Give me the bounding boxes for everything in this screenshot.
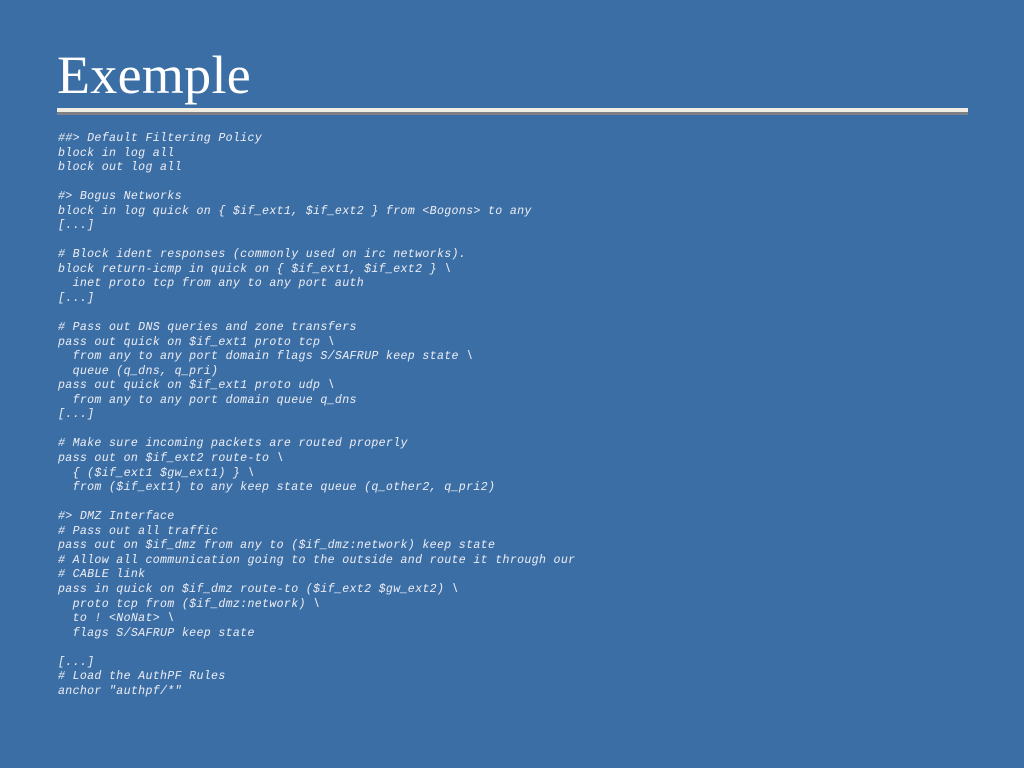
divider-shadow-line [57,112,968,115]
title-divider [57,108,968,115]
code-line: # Block ident responses (commonly used o… [58,248,998,263]
code-line: { ($if_ext1 $gw_ext1) } \ [58,467,998,482]
code-line [58,307,998,322]
code-line [58,496,998,511]
code-line: queue (q_dns, q_pri) [58,365,998,380]
code-line: pass in quick on $if_dmz route-to ($if_e… [58,583,998,598]
code-line: #> Bogus Networks [58,190,998,205]
code-line: # Pass out all traffic [58,525,998,540]
code-line: pass out on $if_dmz from any to ($if_dmz… [58,539,998,554]
code-area: ##> Default Filtering Policyblock in log… [58,132,998,699]
code-line: # CABLE link [58,568,998,583]
code-line: from any to any port domain queue q_dns [58,394,998,409]
slide-root: Exemple ##> Default Filtering Policybloc… [0,0,1024,768]
pf-config-code-block: ##> Default Filtering Policyblock in log… [58,132,998,699]
code-line: # Pass out DNS queries and zone transfer… [58,321,998,336]
code-line: # Load the AuthPF Rules [58,670,998,685]
code-line: [...] [58,408,998,423]
code-line: to ! <NoNat> \ [58,612,998,627]
code-line: flags S/SAFRUP keep state [58,627,998,642]
code-line: proto tcp from ($if_dmz:network) \ [58,598,998,613]
code-line [58,641,998,656]
code-line: anchor "authpf/*" [58,685,998,700]
code-line: ##> Default Filtering Policy [58,132,998,147]
code-line: pass out on $if_ext2 route-to \ [58,452,998,467]
code-line: pass out quick on $if_ext1 proto udp \ [58,379,998,394]
code-line [58,423,998,438]
code-line: #> DMZ Interface [58,510,998,525]
code-line: block out log all [58,161,998,176]
code-line: [...] [58,292,998,307]
code-line: from any to any port domain flags S/SAFR… [58,350,998,365]
code-line: inet proto tcp from any to any port auth [58,277,998,292]
code-line: pass out quick on $if_ext1 proto tcp \ [58,336,998,351]
title-area: Exemple [57,46,969,104]
code-line: block in log quick on { $if_ext1, $if_ex… [58,205,998,220]
code-line: [...] [58,219,998,234]
code-line: block return-icmp in quick on { $if_ext1… [58,263,998,278]
code-line [58,234,998,249]
code-line: # Make sure incoming packets are routed … [58,437,998,452]
code-line: block in log all [58,147,998,162]
code-line: # Allow all communication going to the o… [58,554,998,569]
code-line: from ($if_ext1) to any keep state queue … [58,481,998,496]
code-line [58,176,998,191]
code-line: [...] [58,656,998,671]
page-title: Exemple [57,46,969,104]
